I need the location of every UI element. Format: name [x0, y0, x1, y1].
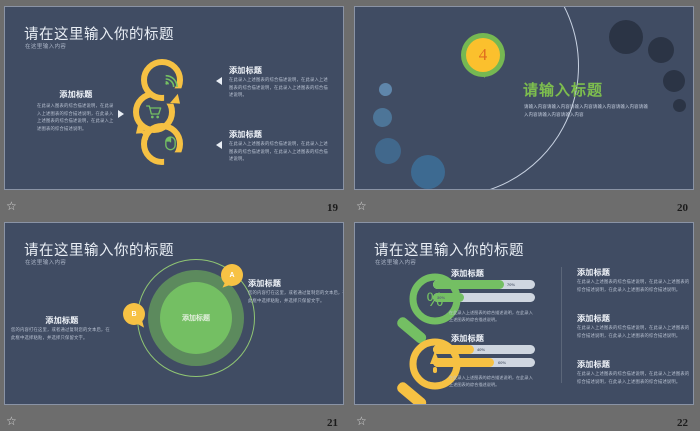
bar-fill-70 [433, 280, 504, 289]
page-subtitle: 在这里输入内容 [375, 258, 416, 266]
info-block-right-1: 添加标题 在此录入上述图表的综合描述说明，在此录入上述图表的综合描述说明，在此录… [229, 65, 332, 99]
block-body: 您的内容打在这里，或者通过复制您的文本后，在此框中选择粘贴，并选择只保留文字。 [248, 289, 344, 304]
info-block-2: 添加标题 在此录入上述图表的综合描述说明，在此录入上述图表的综合描述说明，在此录… [577, 313, 693, 339]
slide-footer-22: ☆ 22 [350, 409, 700, 431]
blue-circle-3 [375, 138, 401, 164]
slide-19[interactable]: 请在这里输入你的标题 在这里输入内容 [4, 6, 344, 190]
slide-footer-19: ☆ 19 [0, 194, 350, 216]
bar-percent-40: 40% [477, 345, 485, 354]
slide-footer-21: ☆ 21 [0, 409, 350, 431]
magnifier-yellow-heading: 添加标题 [451, 333, 484, 344]
arrow-left-icon-2 [216, 141, 222, 149]
block-body: 在此录入上述图表的综合描述说明，在此录入上述图表的综合描述说明，在此录入上述图表… [577, 324, 693, 339]
star-icon[interactable]: ☆ [356, 415, 368, 427]
bar-percent-30: 30% [437, 293, 445, 302]
star-icon[interactable]: ☆ [356, 200, 368, 212]
circle-center-label: 添加标题 [160, 282, 232, 354]
bar-fill-60 [433, 358, 494, 367]
block-body: 在此录入上述图表的综合描述说明，在此录入上述图表的综合描述说明，在此录入上述图表… [577, 370, 693, 385]
star-icon[interactable]: ☆ [6, 415, 18, 427]
shopping-cart-icon [146, 104, 162, 125]
bar-fill-40 [433, 345, 474, 354]
info-block-3: 添加标题 在此录入上述图表的综合描述说明，在此录入上述图表的综合描述说明，在此录… [577, 359, 693, 385]
page-number: 20 [677, 202, 688, 214]
block-body: 在此录入上述图表的综合描述说明，在此录入上述图表的综合描述说明，在此录入上述图表… [577, 278, 693, 293]
pin-marker-b[interactable]: B [123, 303, 145, 325]
magnifier-green-caption: 在此录入上述图表的综合描述说明，在此录入上述图表的综合描述说明。 [449, 309, 535, 323]
pin-label: A [221, 264, 243, 286]
page-number: 19 [327, 202, 338, 214]
block-heading: 添加标题 [577, 359, 693, 370]
block-heading: 添加标题 [577, 267, 693, 278]
dark-circle-1 [609, 20, 643, 54]
slide-cell-19[interactable]: 请在这里输入你的标题 在这里输入内容 [0, 0, 350, 216]
block-heading: 添加标题 [577, 313, 693, 324]
page-number: 22 [677, 417, 688, 429]
wifi-icon [163, 71, 179, 92]
info-block-1: 添加标题 在此录入上述图表的综合描述说明，在此录入上述图表的综合描述说明，在此录… [577, 267, 693, 293]
magnifier-green-heading: 添加标题 [451, 268, 484, 279]
info-block-left: 添加标题 在此录入图表的综合描述说明，在此录入上述图表的综合描述说明，在此录入上… [37, 89, 115, 132]
blue-circle-2 [373, 108, 392, 127]
bar-percent-60: 60% [498, 358, 506, 367]
slide-22[interactable]: 请在这里输入你的标题 在这里输入内容 % 添加标题 70% 30% 在此录入上述… [354, 222, 694, 405]
block-heading: 添加标题 [37, 89, 115, 100]
dark-circle-4 [673, 99, 686, 112]
block-heading: 添加标题 [229, 65, 332, 76]
block-body: 在此录入图表的综合描述说明，在此录入上述图表的综合描述说明，在此录入上述图表的综… [37, 102, 115, 132]
page-title: 请在这里输入你的标题 [24, 239, 174, 260]
slide-cell-20[interactable]: 4 请输入标题 请输入内容请输入内容请输入内容请输入内容请输入内容请输入内容请输… [350, 0, 700, 216]
slide-cell-22[interactable]: 请在这里输入你的标题 在这里输入内容 % 添加标题 70% 30% 在此录入上述… [350, 216, 700, 431]
star-icon[interactable]: ☆ [6, 200, 18, 212]
page-title: 请输入标题 [523, 79, 603, 100]
page-subtitle: 在这里输入内容 [25, 258, 66, 266]
magnifier-yellow-caption: 在此录入上述图表的综合描述说明，在此录入上述图表的综合描述说明。 [449, 374, 535, 388]
number-speech-bubble: 4 [461, 33, 505, 77]
blue-circle-1 [379, 83, 392, 96]
vertical-divider [561, 267, 562, 383]
page-subtitle: 在这里输入内容 [25, 42, 66, 50]
slide-footer-20: ☆ 20 [350, 194, 700, 216]
slide-cell-21[interactable]: 请在这里输入你的标题 在这里输入内容 添加标题 A B 添加标题 您的内容打在这… [0, 216, 350, 431]
mouse-icon [163, 135, 178, 156]
dark-circle-3 [663, 70, 685, 92]
blue-circle-4 [411, 155, 445, 189]
bar-percent-70: 70% [507, 280, 515, 289]
slide-21[interactable]: 请在这里输入你的标题 在这里输入内容 添加标题 A B 添加标题 您的内容打在这… [4, 222, 344, 405]
block-body: 您的内容打在这里，或者通过复制您的文本后，在此框中选择粘贴，并选择只保留文字。 [11, 326, 113, 341]
arrow-left-icon-1 [216, 77, 222, 85]
page-title: 请在这里输入你的标题 [24, 23, 174, 44]
arrow-right-icon [118, 110, 124, 118]
info-block-left: 添加标题 您的内容打在这里，或者通过复制您的文本后，在此框中选择粘贴，并选择只保… [11, 315, 113, 341]
bubble-number: 4 [461, 33, 505, 77]
info-block-right-2: 添加标题 在此录入上述图表的综合描述说明，在此录入上述图表的综合描述说明，在此录… [229, 129, 332, 163]
info-block-right: 添加标题 您的内容打在这里，或者通过复制您的文本后，在此框中选择粘贴，并选择只保… [248, 278, 344, 304]
dark-circle-2 [648, 37, 674, 63]
page-number: 21 [327, 417, 338, 429]
pin-label: B [123, 303, 145, 325]
block-body: 在此录入上述图表的综合描述说明，在此录入上述图表的综合描述说明，在此录入上述图表… [229, 76, 332, 99]
block-heading: 添加标题 [11, 315, 113, 326]
slide-20[interactable]: 4 请输入标题 请输入内容请输入内容请输入内容请输入内容请输入内容请输入内容请输… [354, 6, 694, 190]
block-heading: 添加标题 [229, 129, 332, 140]
pin-marker-a[interactable]: A [221, 264, 243, 286]
page-body: 请输入内容请输入内容请输入内容请输入内容请输入内容请输入内容请输入内容请输入内容 [524, 103, 648, 119]
block-heading: 添加标题 [248, 278, 344, 289]
block-body: 在此录入上述图表的综合描述说明，在此录入上述图表的综合描述说明，在此录入上述图表… [229, 140, 332, 163]
slide-thumbnail-grid: 请在这里输入你的标题 在这里输入内容 [0, 0, 700, 431]
page-title: 请在这里输入你的标题 [374, 239, 524, 260]
